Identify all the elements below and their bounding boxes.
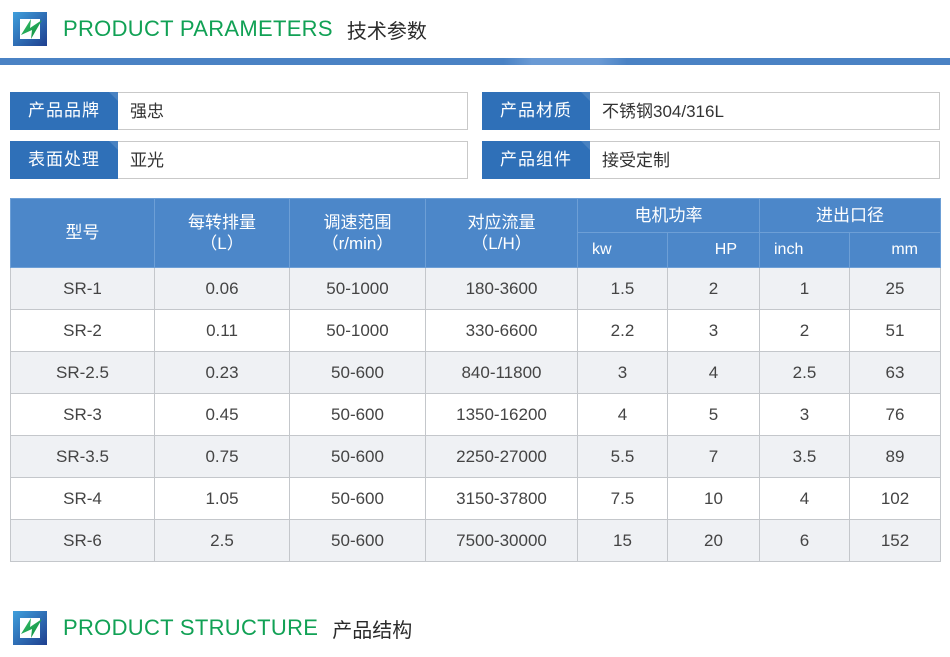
spec-table-head: 型号 每转排量 （L） 调速范围 （r/min） 对应流量 （L/H） 电机功率: [11, 199, 941, 268]
cell-speed: 50-600: [290, 478, 426, 520]
cell-kw: 15: [578, 520, 668, 562]
cell-model: SR-2.5: [11, 352, 155, 394]
table-row: SR-3 0.45 50-600 1350-16200 4 5 3 76: [11, 394, 941, 436]
cell-inch: 2: [760, 310, 850, 352]
cell-speed: 50-600: [290, 394, 426, 436]
cell-mm: 152: [850, 520, 941, 562]
spec-table-wrapper: 型号 每转排量 （L） 调速范围 （r/min） 对应流量 （L/H） 电机功率: [10, 198, 940, 562]
info-label-component: 产品组件: [482, 141, 590, 179]
section-header-row: PRODUCT PARAMETERS 技术参数: [0, 0, 950, 58]
col-header-speed-range: 调速范围 （r/min）: [290, 199, 426, 268]
product-structure-section-header: PRODUCT STRUCTURE 产品结构: [0, 599, 950, 657]
cell-kw: 2.2: [578, 310, 668, 352]
cell-displacement: 0.23: [155, 352, 290, 394]
cell-displacement: 0.45: [155, 394, 290, 436]
cell-mm: 63: [850, 352, 941, 394]
col-header-hp: HP: [668, 233, 760, 268]
cell-kw: 1.5: [578, 268, 668, 310]
blue-square-green-lightning-logo-icon: [9, 8, 51, 50]
section-title-cn: 技术参数: [347, 15, 427, 44]
cell-speed: 50-600: [290, 520, 426, 562]
table-row: SR-3.5 0.75 50-600 2250-27000 5.5 7 3.5 …: [11, 436, 941, 478]
info-pair-component: 产品组件 接受定制: [482, 141, 940, 179]
info-value-material: 不锈钢304/316L: [590, 92, 940, 130]
col-header-kw: kw: [578, 233, 668, 268]
section-divider-bar: [0, 58, 950, 65]
cell-speed: 50-1000: [290, 310, 426, 352]
info-label-surface: 表面处理: [10, 141, 118, 179]
table-row: SR-2.5 0.23 50-600 840-11800 3 4 2.5 63: [11, 352, 941, 394]
table-row: SR-2 0.11 50-1000 330-6600 2.2 3 2 51: [11, 310, 941, 352]
col-header-model: 型号: [11, 199, 155, 268]
cell-kw: 7.5: [578, 478, 668, 520]
info-pair-brand: 产品品牌 强忠: [10, 92, 468, 130]
product-parameters-page: PRODUCT PARAMETERS 技术参数 产品品牌 强忠 产品材质 不锈钢…: [0, 0, 950, 657]
section-title-en: PRODUCT PARAMETERS: [63, 16, 333, 42]
col-header-inch: inch: [760, 233, 850, 268]
col-header-motor-power: 电机功率: [578, 199, 760, 233]
cell-speed: 50-600: [290, 352, 426, 394]
cell-speed: 50-1000: [290, 268, 426, 310]
table-header-row-1: 型号 每转排量 （L） 调速范围 （r/min） 对应流量 （L/H） 电机功率: [11, 199, 941, 233]
cell-inch: 6: [760, 520, 850, 562]
table-row: SR-6 2.5 50-600 7500-30000 15 20 6 152: [11, 520, 941, 562]
cell-displacement: 0.11: [155, 310, 290, 352]
cell-kw: 3: [578, 352, 668, 394]
blue-square-green-lightning-logo-icon: [9, 607, 51, 649]
cell-flow: 7500-30000: [426, 520, 578, 562]
info-row: 表面处理 亚光 产品组件 接受定制: [0, 141, 950, 179]
cell-hp: 3: [668, 310, 760, 352]
info-label-brand: 产品品牌: [10, 92, 118, 130]
cell-flow: 2250-27000: [426, 436, 578, 478]
cell-inch: 4: [760, 478, 850, 520]
section-title-en: PRODUCT STRUCTURE: [63, 615, 318, 641]
col-header-flow: 对应流量 （L/H）: [426, 199, 578, 268]
product-info-grid: 产品品牌 强忠 产品材质 不锈钢304/316L 表面处理 亚光 产品组件 接受…: [0, 65, 950, 179]
cell-flow: 840-11800: [426, 352, 578, 394]
cell-hp: 2: [668, 268, 760, 310]
spec-table: 型号 每转排量 （L） 调速范围 （r/min） 对应流量 （L/H） 电机功率: [10, 198, 941, 562]
cell-mm: 25: [850, 268, 941, 310]
cell-hp: 5: [668, 394, 760, 436]
cell-model: SR-2: [11, 310, 155, 352]
cell-mm: 51: [850, 310, 941, 352]
cell-model: SR-6: [11, 520, 155, 562]
cell-inch: 2.5: [760, 352, 850, 394]
section-title-cn: 产品结构: [332, 614, 412, 643]
cell-displacement: 0.75: [155, 436, 290, 478]
spec-table-body: SR-1 0.06 50-1000 180-3600 1.5 2 1 25 SR…: [11, 268, 941, 562]
info-pair-surface: 表面处理 亚光: [10, 141, 468, 179]
cell-model: SR-4: [11, 478, 155, 520]
cell-model: SR-1: [11, 268, 155, 310]
product-parameters-section-header: PRODUCT PARAMETERS 技术参数: [0, 0, 950, 65]
section-header-row: PRODUCT STRUCTURE 产品结构: [0, 599, 950, 657]
cell-hp: 7: [668, 436, 760, 478]
cell-flow: 1350-16200: [426, 394, 578, 436]
cell-inch: 1: [760, 268, 850, 310]
cell-model: SR-3: [11, 394, 155, 436]
info-row: 产品品牌 强忠 产品材质 不锈钢304/316L: [0, 92, 950, 130]
col-header-port-size: 进出口径: [760, 199, 941, 233]
info-pair-material: 产品材质 不锈钢304/316L: [482, 92, 940, 130]
col-header-displacement: 每转排量 （L）: [155, 199, 290, 268]
table-row: SR-1 0.06 50-1000 180-3600 1.5 2 1 25: [11, 268, 941, 310]
cell-hp: 10: [668, 478, 760, 520]
cell-mm: 76: [850, 394, 941, 436]
cell-flow: 3150-37800: [426, 478, 578, 520]
info-value-surface: 亚光: [118, 141, 468, 179]
table-row: SR-4 1.05 50-600 3150-37800 7.5 10 4 102: [11, 478, 941, 520]
info-value-brand: 强忠: [118, 92, 468, 130]
cell-inch: 3.5: [760, 436, 850, 478]
info-value-component: 接受定制: [590, 141, 940, 179]
cell-flow: 180-3600: [426, 268, 578, 310]
cell-displacement: 2.5: [155, 520, 290, 562]
cell-mm: 89: [850, 436, 941, 478]
cell-displacement: 1.05: [155, 478, 290, 520]
cell-hp: 4: [668, 352, 760, 394]
cell-kw: 5.5: [578, 436, 668, 478]
info-label-material: 产品材质: [482, 92, 590, 130]
cell-hp: 20: [668, 520, 760, 562]
cell-mm: 102: [850, 478, 941, 520]
cell-speed: 50-600: [290, 436, 426, 478]
cell-displacement: 0.06: [155, 268, 290, 310]
cell-flow: 330-6600: [426, 310, 578, 352]
col-header-mm: mm: [850, 233, 941, 268]
cell-kw: 4: [578, 394, 668, 436]
cell-inch: 3: [760, 394, 850, 436]
cell-model: SR-3.5: [11, 436, 155, 478]
